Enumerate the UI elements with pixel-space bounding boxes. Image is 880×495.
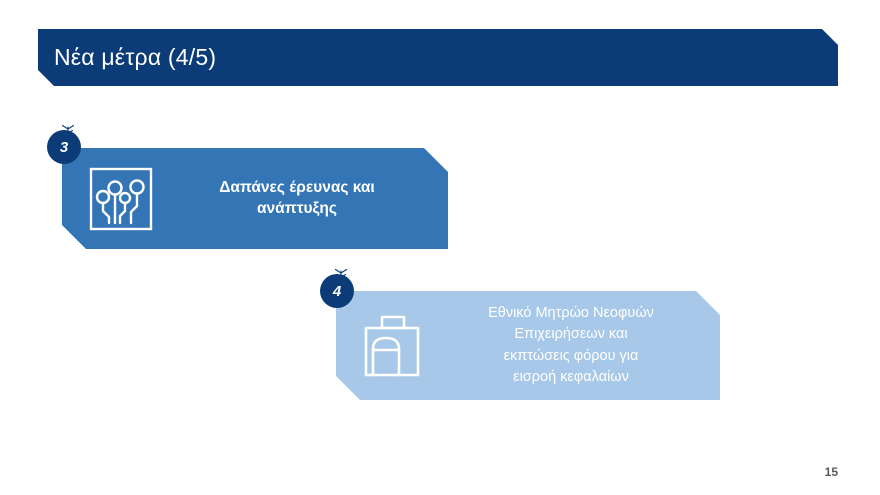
briefcase-icon xyxy=(336,313,448,379)
step-badge-3-label: 3 xyxy=(60,139,68,156)
measure-card-startup-registry[interactable]: Εθνικό Μητρώο Νεοφυών Επιχειρήσεων και ε… xyxy=(336,291,720,400)
step-badge-4-label: 4 xyxy=(333,283,341,300)
sparkle-icon xyxy=(332,268,350,282)
page-title: Νέα μέτρα (4/5) xyxy=(54,44,216,71)
sparkle-icon xyxy=(59,124,77,138)
measure-card-startup-registry-label: Εθνικό Μητρώο Νεοφυών Επιχειρήσεων και ε… xyxy=(448,303,720,388)
measure-card-rnd-expenses-label: Δαπάνες έρευνας και ανάπτυξης xyxy=(180,178,448,219)
slide: Νέα μέτρα (4/5) 3 xyxy=(0,0,880,495)
step-badge-3: 3 xyxy=(47,130,81,164)
page-number: 15 xyxy=(825,465,838,479)
circuit-board-icon xyxy=(62,166,180,232)
step-badge-4: 4 xyxy=(320,274,354,308)
measure-card-rnd-expenses[interactable]: Δαπάνες έρευνας και ανάπτυξης xyxy=(62,148,448,249)
slide-title-bar: Νέα μέτρα (4/5) xyxy=(38,29,838,86)
